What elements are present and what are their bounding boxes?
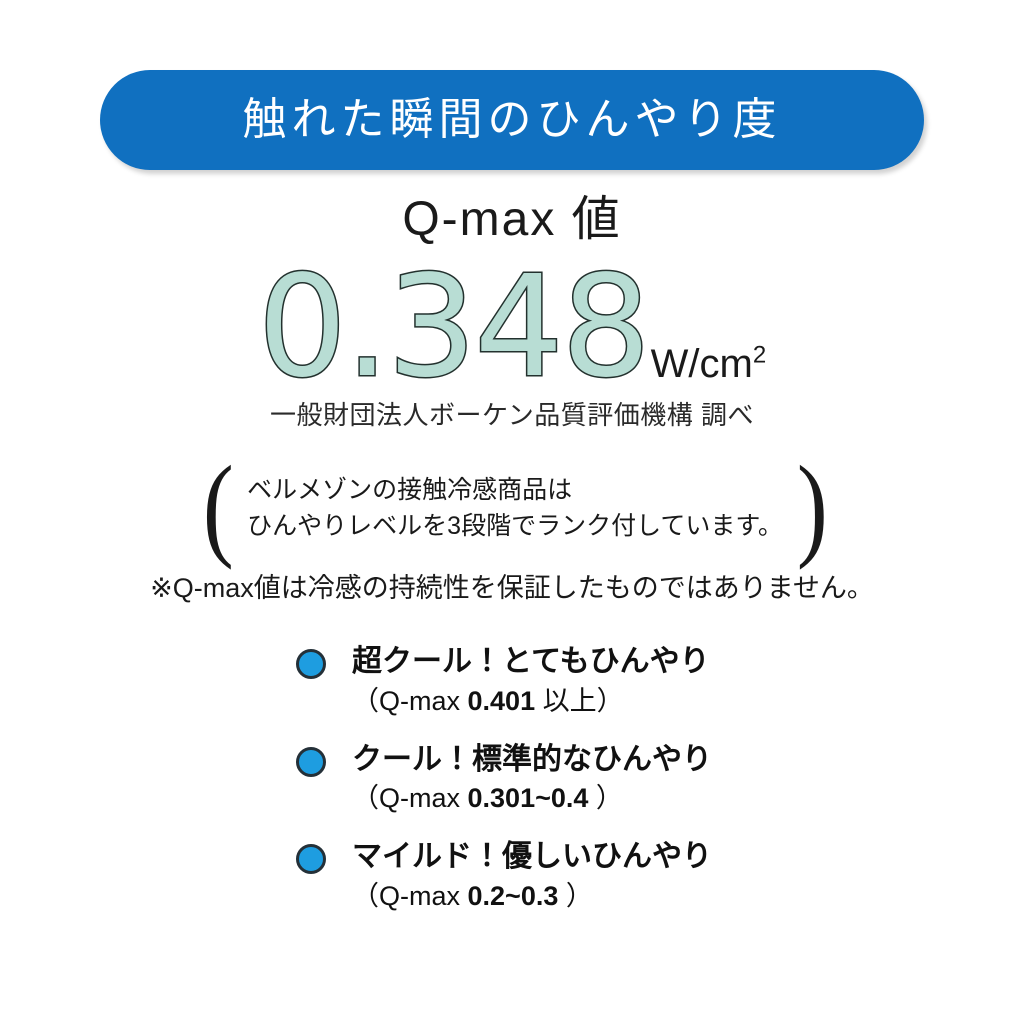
rank-range-suffix: 以上） [535, 686, 624, 716]
rank-range: （Q-max 0.401 以上） [352, 684, 816, 719]
qmax-unit: W/cm2 [651, 344, 767, 398]
rank-range-value: 0.301~0.4 [468, 783, 589, 813]
rank-range-prefix: （Q-max [352, 686, 468, 716]
rank-list: 超クール！とてもひんやり （Q-max 0.401 以上） クール！標準的なひん… [296, 645, 816, 938]
bullet-dot-icon [296, 649, 326, 679]
rank-item: クール！標準的なひんやり （Q-max 0.301~0.4 ） [296, 743, 816, 817]
bullet-dot-icon [296, 844, 326, 874]
close-paren: ) [797, 466, 828, 550]
bracket-note-text: ベルメゾンの接触冷感商品は ひんやりレベルを3段階でランク付しています。 [237, 472, 793, 545]
rank-item: 超クール！とてもひんやり （Q-max 0.401 以上） [296, 645, 816, 719]
rank-title: マイルド！優しいひんやり [352, 840, 816, 875]
disclaimer-text: ※Q-max値は冷感の持続性を保証したものではありません。 [0, 572, 1024, 604]
source-attribution: 一般財団法人ボーケン品質評価機構 調べ [0, 402, 1024, 428]
rank-range-prefix: （Q-max [352, 881, 468, 911]
header-banner-title: 触れた瞬間のひんやり度 [243, 98, 782, 142]
rank-range: （Q-max 0.301~0.4 ） [352, 781, 816, 816]
qmax-value: 0.348 [258, 258, 649, 398]
qmax-label: Q-max 値 [0, 196, 1024, 244]
bullet-dot-icon [296, 747, 326, 777]
rank-item: マイルド！優しいひんやり （Q-max 0.2~0.3 ） [296, 840, 816, 914]
bracket-note-line2: ひんやりレベルを3段階でランク付しています。 [247, 508, 783, 544]
qmax-unit-exponent: 2 [753, 342, 766, 369]
rank-range-value: 0.2~0.3 [468, 881, 559, 911]
open-paren: ( [202, 466, 233, 550]
qmax-unit-main: W/cm [651, 342, 753, 386]
bracket-note: ( ベルメゾンの接触冷感商品は ひんやりレベルを3段階でランク付しています。 ) [215, 458, 815, 558]
rank-range: （Q-max 0.2~0.3 ） [352, 879, 816, 914]
header-banner: 触れた瞬間のひんやり度 [100, 70, 924, 170]
qmax-value-row: 0.348 W/cm2 [0, 258, 1024, 398]
rank-range-value: 0.401 [468, 686, 536, 716]
rank-range-suffix: ） [588, 783, 623, 813]
rank-range-suffix: ） [558, 881, 593, 911]
rank-range-prefix: （Q-max [352, 783, 468, 813]
rank-title: 超クール！とてもひんやり [352, 645, 816, 680]
rank-title: クール！標準的なひんやり [352, 743, 816, 778]
bracket-note-line1: ベルメゾンの接触冷感商品は [247, 472, 783, 508]
infographic-page: 触れた瞬間のひんやり度 Q-max 値 0.348 W/cm2 一般財団法人ボー… [0, 0, 1024, 1024]
